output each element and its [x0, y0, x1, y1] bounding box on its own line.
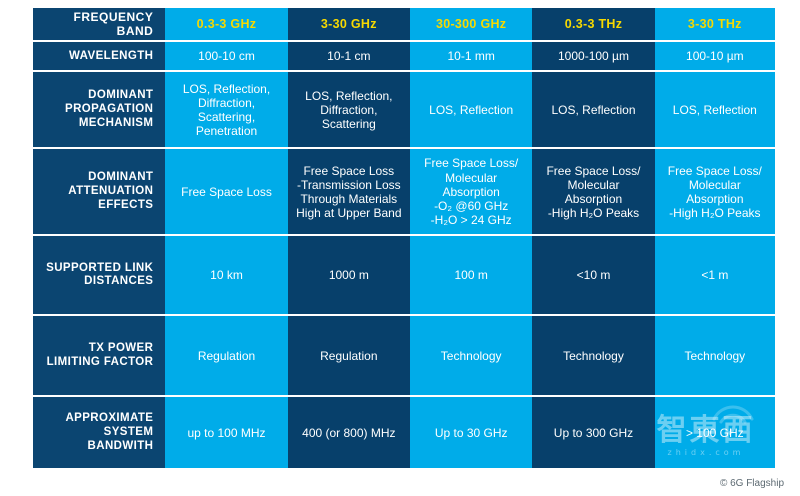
- cell-text: Free Space Loss/MolecularAbsorption-O₂ @…: [414, 156, 528, 227]
- table-cell: 100-10 cm: [165, 41, 287, 71]
- cell-line: LOS, Reflection: [659, 103, 771, 117]
- cell-line: Absorption: [414, 185, 528, 199]
- spec-table: FREQUENCY BAND0.3-3 GHz3-30 GHz30-300 GH…: [33, 8, 775, 468]
- table-cell: up to 100 MHz: [165, 396, 287, 468]
- row-label: DOMINANT PROPAGATION MECHANISM: [33, 71, 165, 148]
- cell-text: 100-10 cm: [169, 49, 283, 63]
- cell-line: Molecular: [414, 171, 528, 185]
- table-cell: Technology: [410, 315, 532, 396]
- cell-line: 1000-100 µm: [536, 49, 650, 63]
- table-cell: Free Space Loss-Transmission LossThrough…: [288, 148, 410, 235]
- cell-line: Absorption: [659, 192, 771, 206]
- cell-line: 400 (or 800) MHz: [292, 426, 406, 440]
- cell-line: Through Materials: [292, 192, 406, 206]
- row-label: APPROXIMATE SYSTEM BANDWITH: [33, 396, 165, 468]
- cell-text: up to 100 MHz: [169, 426, 283, 440]
- row-label: SUPPORTED LINK DISTANCES: [33, 235, 165, 315]
- table-cell: Free Space Loss/MolecularAbsorption-O₂ @…: [410, 148, 532, 235]
- cell-text: LOS, Reflection,Diffraction,Scattering,P…: [169, 82, 283, 139]
- cell-line: -High H₂O Peaks: [536, 206, 650, 220]
- row-label: WAVELENGTH: [33, 41, 165, 71]
- table-row: APPROXIMATE SYSTEM BANDWITHup to 100 MHz…: [33, 396, 775, 468]
- cell-line: 100-10 µm: [659, 49, 771, 63]
- table-cell: Up to 300 GHz: [532, 396, 654, 468]
- cell-text: LOS, Reflection: [659, 103, 771, 117]
- table-row: DOMINANT ATTENUATION EFFECTSFree Space L…: [33, 148, 775, 235]
- table-header-row: FREQUENCY BAND0.3-3 GHz3-30 GHz30-300 GH…: [33, 8, 775, 41]
- table-row: DOMINANT PROPAGATION MECHANISMLOS, Refle…: [33, 71, 775, 148]
- table-cell: Regulation: [165, 315, 287, 396]
- cell-text: Free Space Loss/MolecularAbsorption-High…: [536, 164, 650, 221]
- cell-text: Technology: [414, 349, 528, 363]
- cell-text: 10-1 cm: [292, 49, 406, 63]
- table-cell: Free Space Loss/MolecularAbsorption-High…: [655, 148, 775, 235]
- table-row: TX POWER LIMITING FACTORRegulationRegula…: [33, 315, 775, 396]
- cell-text: Up to 300 GHz: [536, 426, 650, 440]
- cell-line: Technology: [659, 349, 771, 363]
- table-cell: 10-1 mm: [410, 41, 532, 71]
- cell-text: <1 m: [659, 268, 771, 282]
- cell-text: Free Space Loss/MolecularAbsorption-High…: [659, 164, 771, 221]
- cell-line: Molecular: [659, 178, 771, 192]
- table-cell: LOS, Reflection,Diffraction,Scattering,P…: [165, 71, 287, 148]
- cell-text: Technology: [536, 349, 650, 363]
- cell-line: Up to 300 GHz: [536, 426, 650, 440]
- table-cell: LOS, Reflection,Diffraction,Scattering: [288, 71, 410, 148]
- table-cell: Free Space Loss/MolecularAbsorption-High…: [532, 148, 654, 235]
- column-header-5: 3-30 THz: [655, 8, 775, 41]
- cell-text: LOS, Reflection: [414, 103, 528, 117]
- table-cell: Technology: [655, 315, 775, 396]
- cell-text: 10 km: [169, 268, 283, 282]
- cell-line: Penetration: [169, 124, 283, 138]
- cell-line: LOS, Reflection: [536, 103, 650, 117]
- cell-line: 10-1 mm: [414, 49, 528, 63]
- cell-line: LOS, Reflection: [414, 103, 528, 117]
- cell-line: Diffraction,: [169, 96, 283, 110]
- table-cell: LOS, Reflection: [532, 71, 654, 148]
- cell-text: Free Space Loss: [169, 185, 283, 199]
- table-cell: Regulation: [288, 315, 410, 396]
- cell-text: 100 m: [414, 268, 528, 282]
- table-cell: LOS, Reflection: [655, 71, 775, 148]
- cell-text: 100-10 µm: [659, 49, 771, 63]
- table-row: WAVELENGTH100-10 cm10-1 cm10-1 mm1000-10…: [33, 41, 775, 71]
- table-cell: 1000 m: [288, 235, 410, 315]
- cell-line: 10-1 cm: [292, 49, 406, 63]
- wifi-watermark-icon: [710, 403, 756, 430]
- cell-text: <10 m: [536, 268, 650, 282]
- cell-line: -Transmission Loss: [292, 178, 406, 192]
- table-cell: 10 km: [165, 235, 287, 315]
- cell-text: Regulation: [169, 349, 283, 363]
- cell-line: Free Space Loss/: [659, 164, 771, 178]
- cell-line: <1 m: [659, 268, 771, 282]
- table-cell: LOS, Reflection: [410, 71, 532, 148]
- cell-line: High at Upper Band: [292, 206, 406, 220]
- table-cell: <10 m: [532, 235, 654, 315]
- column-header-1: 0.3-3 GHz: [165, 8, 287, 41]
- table-cell: 100-10 µm: [655, 41, 775, 71]
- table-cell: Technology: [532, 315, 654, 396]
- frequency-band-comparison-table: FREQUENCY BAND0.3-3 GHz3-30 GHz30-300 GH…: [33, 8, 775, 465]
- cell-line: 100 m: [414, 268, 528, 282]
- table-cell: Up to 30 GHz: [410, 396, 532, 468]
- cell-line: 100-10 cm: [169, 49, 283, 63]
- cell-line: Free Space Loss: [292, 164, 406, 178]
- table-cell: <1 m: [655, 235, 775, 315]
- row-label-frequency-band: FREQUENCY BAND: [33, 8, 165, 41]
- table-cell: 10-1 cm: [288, 41, 410, 71]
- cell-line: Technology: [414, 349, 528, 363]
- cell-line: Regulation: [292, 349, 406, 363]
- cell-line: Diffraction,: [292, 103, 406, 117]
- cell-text: LOS, Reflection,Diffraction,Scattering: [292, 89, 406, 131]
- cell-line: up to 100 MHz: [169, 426, 283, 440]
- cell-text: 1000 m: [292, 268, 406, 282]
- table-cell: 100 m: [410, 235, 532, 315]
- cell-line: LOS, Reflection,: [292, 89, 406, 103]
- copyright-credit: © 6G Flagship: [720, 478, 784, 489]
- cell-line: Absorption: [536, 192, 650, 206]
- cell-text: 1000-100 µm: [536, 49, 650, 63]
- cell-line: Scattering,: [169, 110, 283, 124]
- cell-line: -O₂ @60 GHz: [414, 199, 528, 213]
- cell-text: Free Space Loss-Transmission LossThrough…: [292, 164, 406, 221]
- cell-line: 1000 m: [292, 268, 406, 282]
- cell-line: LOS, Reflection,: [169, 82, 283, 96]
- row-label: TX POWER LIMITING FACTOR: [33, 315, 165, 396]
- cell-line: -High H₂O Peaks: [659, 206, 771, 220]
- table-cell: Free Space Loss: [165, 148, 287, 235]
- cell-line: Regulation: [169, 349, 283, 363]
- column-header-2: 3-30 GHz: [288, 8, 410, 41]
- table-cell: 400 (or 800) MHz: [288, 396, 410, 468]
- cell-line: Up to 30 GHz: [414, 426, 528, 440]
- column-header-4: 0.3-3 THz: [532, 8, 654, 41]
- cell-line: Free Space Loss: [169, 185, 283, 199]
- cell-line: 10 km: [169, 268, 283, 282]
- cell-line: Technology: [536, 349, 650, 363]
- cell-text: LOS, Reflection: [536, 103, 650, 117]
- cell-line: Free Space Loss/: [536, 164, 650, 178]
- cell-text: Regulation: [292, 349, 406, 363]
- cell-line: Free Space Loss/: [414, 156, 528, 170]
- cell-line: -H₂O > 24 GHz: [414, 213, 528, 227]
- cell-text: 10-1 mm: [414, 49, 528, 63]
- table-cell: 1000-100 µm: [532, 41, 654, 71]
- cell-line: Molecular: [536, 178, 650, 192]
- table-row: SUPPORTED LINK DISTANCES10 km1000 m100 m…: [33, 235, 775, 315]
- cell-text: Technology: [659, 349, 771, 363]
- cell-text: Up to 30 GHz: [414, 426, 528, 440]
- cell-line: Scattering: [292, 117, 406, 131]
- cell-text: 400 (or 800) MHz: [292, 426, 406, 440]
- column-header-3: 30-300 GHz: [410, 8, 532, 41]
- row-label: DOMINANT ATTENUATION EFFECTS: [33, 148, 165, 235]
- cell-line: <10 m: [536, 268, 650, 282]
